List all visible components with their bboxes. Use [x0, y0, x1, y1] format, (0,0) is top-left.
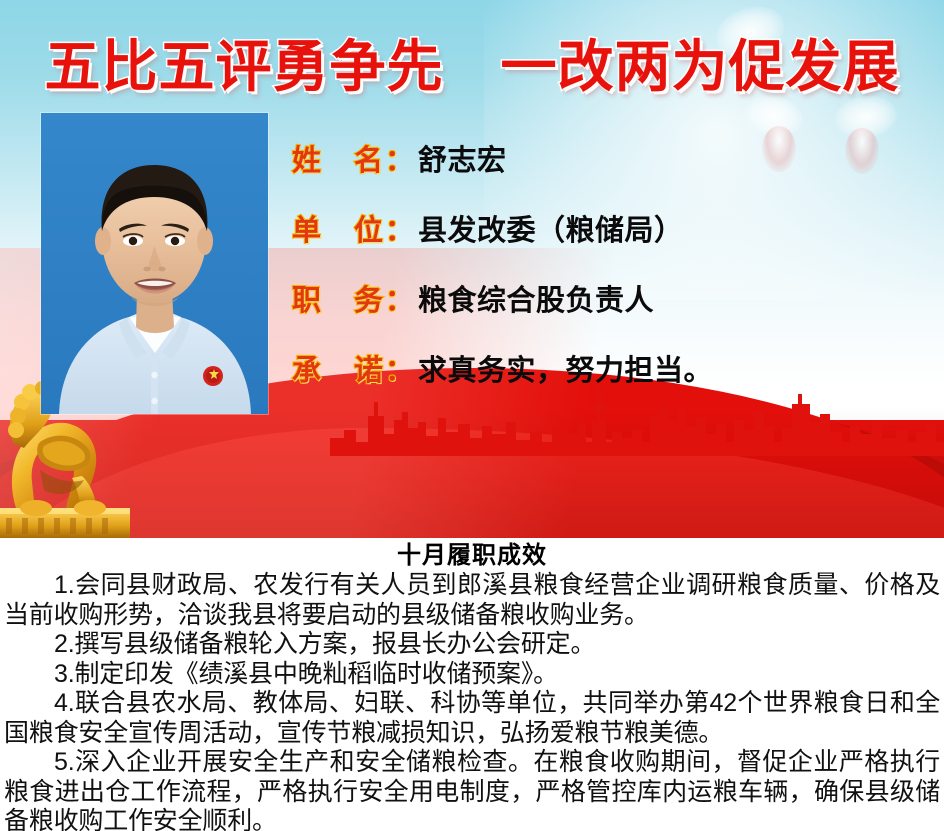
field-value-position: 粮食综合股负责人	[418, 285, 654, 317]
report-item: 2.撰写县级储备粮轮入方案，报县长办公会研定。	[4, 630, 940, 660]
field-label-name: 姓 名：	[292, 145, 416, 177]
field-name-row: 姓 名：舒志宏	[292, 142, 932, 185]
field-value-name: 舒志宏	[418, 145, 507, 177]
poster-title: 五比五评勇争先 一改两为促发展	[0, 36, 944, 98]
report-item: 3.制定印发《绩溪县中晚籼稻临时收储预案》。	[4, 660, 940, 690]
hero-banner: 五比五评勇争先 一改两为促发展	[0, 0, 944, 538]
field-value-pledge: 求真务实，努力担当。	[418, 355, 713, 387]
field-pledge-row: 承 诺：求真务实，努力担当。	[292, 352, 932, 395]
field-label-position: 职 务：	[292, 285, 416, 317]
portrait-photo	[41, 113, 268, 414]
field-unit-row: 单 位：县发改委（粮储局）	[292, 212, 932, 255]
dove-icon	[832, 92, 899, 142]
field-label-pledge: 承 诺：	[292, 355, 416, 387]
field-value-unit: 县发改委（粮储局）	[418, 215, 684, 247]
dove-icon	[741, 90, 806, 141]
poster-root: 五比五评勇争先 一改两为促发展	[0, 0, 944, 831]
field-position-row: 职 务：粮食综合股负责人	[292, 282, 932, 325]
report-item: 5.深入企业开展安全生产和安全储粮检查。在粮食收购期间，督促企业严格执行粮食进出…	[4, 748, 940, 831]
field-label-unit: 单 位：	[292, 215, 416, 247]
report-heading: 十月履职成效	[0, 541, 944, 571]
report-section: 十月履职成效 1.会同县财政局、农发行有关人员到郎溪县粮食经营企业调研粮食质量、…	[0, 538, 944, 831]
report-item: 4.联合县农水局、教体局、妇联、科协等单位，共同举办第42个世界粮食日和全国粮食…	[4, 689, 940, 748]
report-item: 1.会同县财政局、农发行有关人员到郎溪县粮食经营企业调研粮食质量、价格及当前收购…	[4, 571, 940, 630]
info-fields: 姓 名：舒志宏 单 位：县发改委（粮储局） 职 务：粮食综合股负责人 承 诺：求…	[292, 142, 932, 422]
report-body: 1.会同县财政局、农发行有关人员到郎溪县粮食经营企业调研粮食质量、价格及当前收购…	[0, 571, 944, 831]
